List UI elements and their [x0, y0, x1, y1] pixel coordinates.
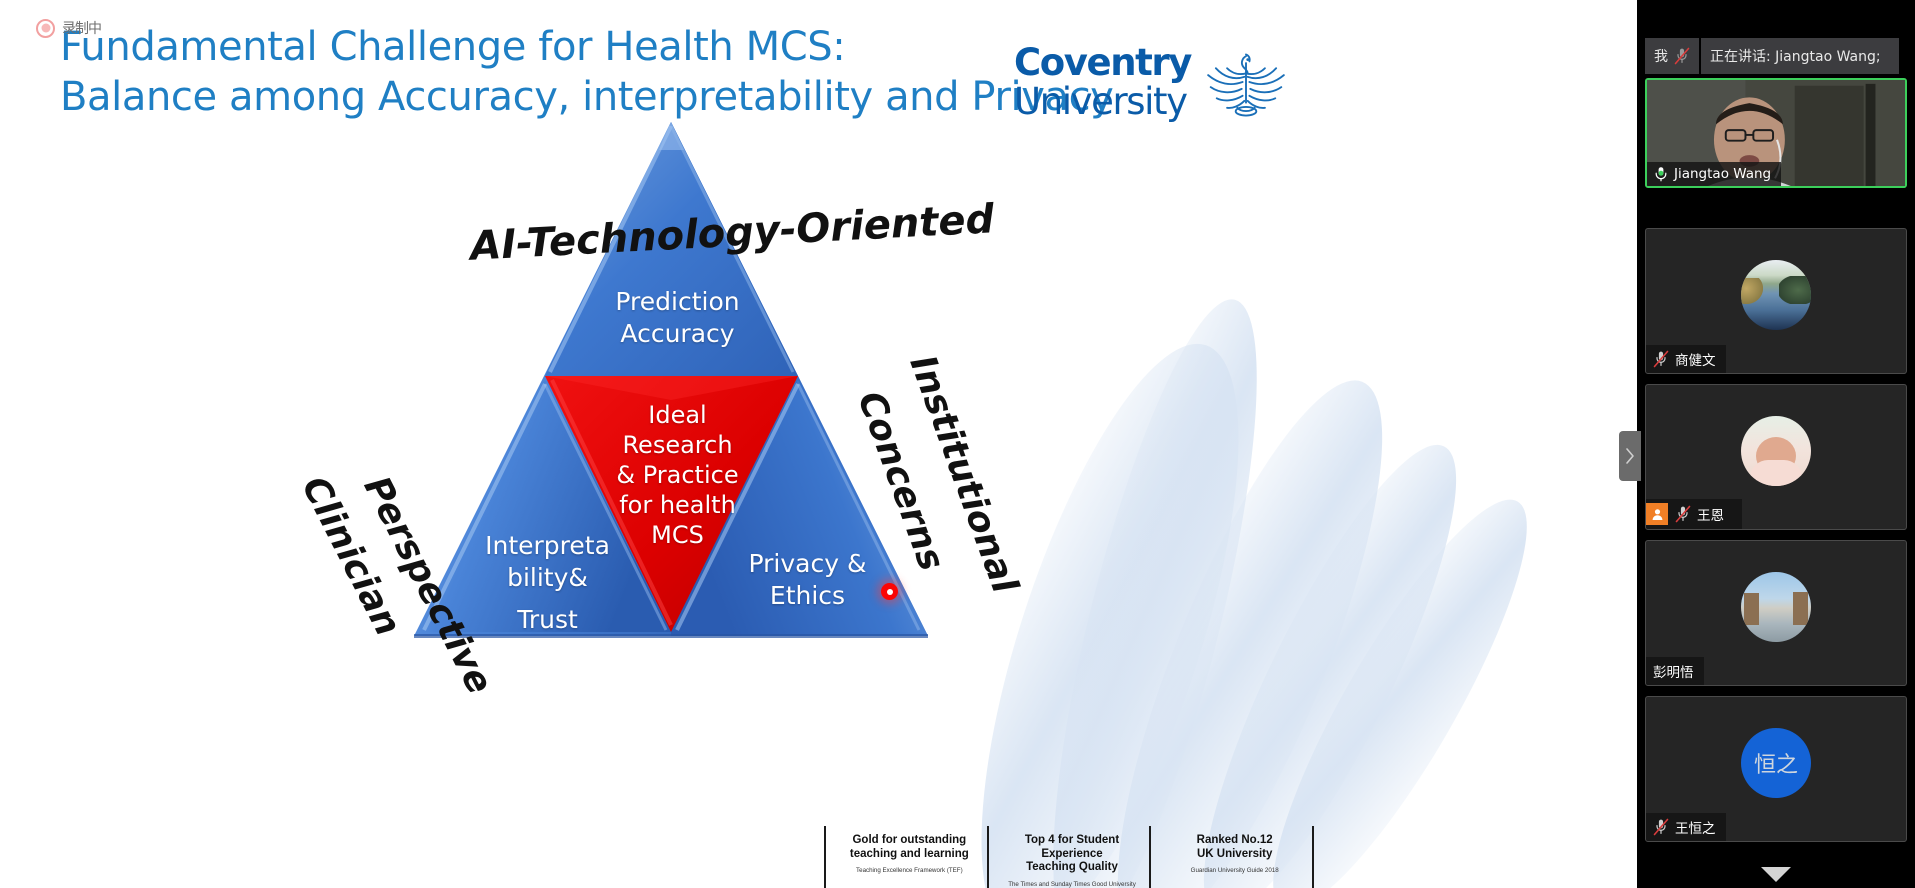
- participant-name: Jiangtao Wang: [1674, 166, 1771, 182]
- award-source: The Times and Sunday Times Good Universi…: [1001, 881, 1144, 888]
- participant-name-badge: Jiangtao Wang: [1647, 162, 1781, 186]
- logo-wordmark: Coventry University: [1014, 43, 1191, 121]
- chevron-right-icon: [1624, 447, 1636, 465]
- participant-name: 王恒之: [1675, 817, 1716, 837]
- status-bar: 我 正在讲话: Jiangtao Wang;: [1645, 38, 1899, 74]
- collapse-panel-button[interactable]: [1619, 431, 1641, 481]
- participant-tile-pengmingwu[interactable]: 彭明悟: [1645, 540, 1907, 686]
- award-source: Teaching Excellence Framework (TEF): [838, 867, 981, 875]
- avatar: [1741, 572, 1811, 642]
- coventry-university-logo: Coventry University: [1014, 42, 1289, 122]
- app-root: 录制中 Fundamental Challenge for Health MCS…: [0, 0, 1915, 888]
- pyramid-graphic: [0, 0, 1637, 888]
- award-title-line-1: Gold for outstanding: [838, 834, 981, 848]
- participant-name-badge: 王恒之: [1646, 813, 1726, 841]
- award-source: Guardian University Guide 2018: [1163, 867, 1306, 875]
- participant-name: 王恩: [1697, 504, 1732, 524]
- award-title-line-1: Ranked No.12: [1163, 834, 1306, 848]
- mic-on-icon: [1654, 166, 1668, 182]
- award-item: Ranked No.12 UK University Guardian Univ…: [1149, 826, 1314, 888]
- avatar-initials: 恒之: [1754, 747, 1798, 779]
- mic-muted-icon: [1675, 505, 1691, 523]
- me-label: 我: [1654, 46, 1668, 66]
- avatar: [1741, 416, 1811, 486]
- participants-panel: 我 正在讲话: Jiangtao Wang;: [1637, 0, 1915, 888]
- recording-label: 录制中: [62, 18, 101, 38]
- participant-tile-wangen[interactable]: 王恩: [1645, 384, 1907, 530]
- participant-name: 商健文: [1675, 349, 1716, 369]
- mic-muted-icon: [1653, 350, 1669, 368]
- participant-tile-jiangtao-wang[interactable]: Jiangtao Wang: [1645, 78, 1907, 188]
- avatar: [1741, 260, 1811, 330]
- title-line-2: Balance among Accuracy, interpretability…: [60, 72, 1060, 122]
- award-title-line-1: Top 4 for Student Experience: [1001, 834, 1144, 861]
- me-chip[interactable]: 我: [1645, 38, 1701, 74]
- shared-slide: 录制中 Fundamental Challenge for Health MCS…: [0, 0, 1637, 888]
- award-item: Gold for outstanding teaching and learni…: [824, 826, 987, 888]
- participant-tile-shangjianwen[interactable]: 商健文: [1645, 228, 1907, 374]
- award-title-line-2: teaching and learning: [838, 848, 981, 862]
- scroll-down-arrow-icon[interactable]: [1761, 867, 1791, 882]
- laser-pointer-dot: [881, 583, 898, 600]
- participant-name-badge: 彭明悟: [1646, 657, 1704, 685]
- pyramid-diagram: AI-Technology-Oriented Clinician Perspec…: [0, 0, 1637, 888]
- participant-name-badge: 王恩: [1646, 499, 1742, 529]
- title-line-1: Fundamental Challenge for Health MCS:: [60, 22, 1060, 72]
- avatar: 恒之: [1741, 728, 1811, 798]
- active-speaker-chip: 正在讲话: Jiangtao Wang;: [1701, 38, 1899, 74]
- mic-muted-icon: [1674, 47, 1690, 65]
- mic-muted-icon: [1653, 818, 1669, 836]
- logo-line-2: University: [1014, 82, 1191, 121]
- award-item: Top 4 for Student Experience Teaching Qu…: [987, 826, 1150, 888]
- participant-name-badge: 商健文: [1646, 345, 1726, 373]
- active-speaker-label: 正在讲话: Jiangtao Wang;: [1710, 46, 1881, 66]
- participant-name: 彭明悟: [1653, 661, 1694, 681]
- person-icon: [1651, 508, 1664, 521]
- page-title: Fundamental Challenge for Health MCS: Ba…: [60, 22, 1060, 122]
- award-title-line-2: Teaching Quality: [1001, 861, 1144, 875]
- award-title: Gold for outstanding teaching and learni…: [838, 834, 981, 861]
- participant-tile-wanghengzhi[interactable]: 恒之 王恒之: [1645, 696, 1907, 842]
- phoenix-icon: [1203, 42, 1289, 122]
- award-title: Ranked No.12 UK University: [1163, 834, 1306, 861]
- record-dot-icon: [36, 19, 55, 38]
- host-badge: [1646, 503, 1668, 525]
- logo-line-1: Coventry: [1014, 43, 1191, 82]
- award-title-line-2: UK University: [1163, 848, 1306, 862]
- recording-indicator[interactable]: 录制中: [36, 18, 101, 38]
- award-badges-strip: Gold for outstanding teaching and learni…: [824, 826, 1314, 888]
- award-title: Top 4 for Student Experience Teaching Qu…: [1001, 834, 1144, 875]
